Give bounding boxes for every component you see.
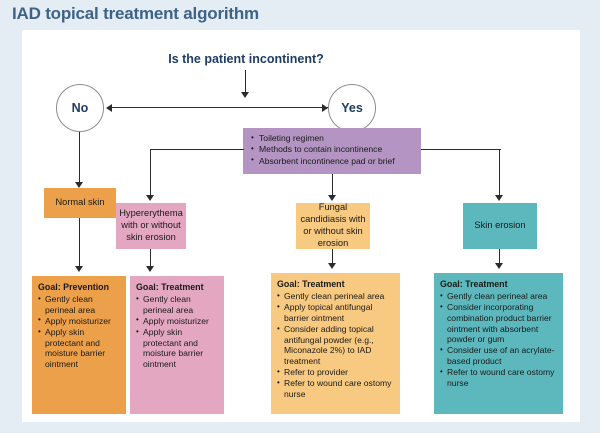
- arrow-treatment-fungal-icon: [328, 263, 336, 269]
- decision-question: Is the patient incontinent?: [126, 52, 366, 66]
- arrow-hypererythema-icon: [146, 195, 154, 201]
- condition-label: Hypererythema with or without skin erosi…: [119, 208, 183, 244]
- treatment-item: Apply topical antifungal barrier ointmen…: [277, 302, 395, 323]
- treatment-item: Apply skin protectant and moisture barri…: [38, 327, 121, 370]
- treatment-item: Gently clean perineal area: [440, 291, 558, 302]
- decision-node-yes[interactable]: Yes: [328, 84, 376, 132]
- treatment-item: Refer to wound care ostomy nurse: [440, 367, 558, 388]
- decision-node-no[interactable]: No: [56, 84, 104, 132]
- arrow-treatment-teal-icon: [495, 263, 503, 269]
- regimen-item: Methods to contain incontinence: [251, 144, 417, 155]
- treatment-box-hypererythema: Goal: Treatment Gently clean perineal ar…: [130, 276, 224, 414]
- connector-split-horizontal: [110, 107, 328, 108]
- flowchart-canvas: Is the patient incontinent? No Yes Toile…: [22, 30, 580, 422]
- arrow-treatment-pink-icon: [146, 266, 154, 272]
- treatment-item: Apply moisturizer: [136, 316, 219, 327]
- treatment-item: Refer to wound care ostomy nurse: [277, 378, 395, 399]
- treatment-box-fungal: Goal: Treatment Gently clean perineal ar…: [271, 273, 400, 414]
- treatment-list: Gently clean perineal area Apply moistur…: [38, 294, 121, 370]
- page-title: IAD topical treatment algorithm: [12, 4, 259, 24]
- connector-branch-right-drop: [499, 149, 500, 199]
- treatment-item: Gently clean perineal area: [38, 294, 121, 315]
- arrow-skinerosion-icon: [495, 195, 503, 201]
- regimen-item: Absorbent incontinence pad or brief: [251, 156, 417, 167]
- arrow-to-no-icon: [106, 104, 112, 112]
- treatment-list: Gently clean perineal area Apply moistur…: [136, 294, 219, 370]
- treatment-heading: Goal: Treatment: [136, 282, 219, 293]
- connector-no-to-normalskin: [79, 132, 80, 186]
- treatment-item: Refer to provider: [277, 367, 395, 378]
- treatment-heading: Goal: Treatment: [277, 279, 395, 290]
- connector-normalskin-to-prevention: [79, 218, 80, 270]
- treatment-list: Gently clean perineal area Consider inco…: [440, 291, 558, 388]
- condition-label: Normal skin: [55, 197, 104, 209]
- treatment-heading: Goal: Prevention: [38, 282, 121, 293]
- treatment-list: Gently clean perineal area Apply topical…: [277, 291, 395, 400]
- condition-box-skin-erosion: Skin erosion: [463, 203, 537, 249]
- regimen-list: Toileting regimen Methods to contain inc…: [251, 133, 417, 167]
- condition-box-normal-skin: Normal skin: [44, 188, 116, 218]
- connector-branch-left-bus: [150, 149, 244, 150]
- connector-branch-left-drop: [150, 149, 151, 199]
- diagram-root: IAD topical treatment algorithm Is the p…: [0, 0, 600, 433]
- arrow-prevention-icon: [75, 266, 83, 272]
- regimen-item: Toileting regimen: [251, 133, 417, 144]
- treatment-item: Consider use of an acrylate-based produc…: [440, 345, 558, 366]
- condition-box-fungal-candidiasis: Fungal candidiasis with or without skin …: [296, 203, 370, 249]
- treatment-item: Gently clean perineal area: [136, 294, 219, 315]
- treatment-item: Gently clean perineal area: [277, 291, 395, 302]
- treatment-item: Apply skin protectant and moisture barri…: [136, 327, 219, 370]
- treatment-item: Apply moisturizer: [38, 316, 121, 327]
- treatment-heading: Goal: Treatment: [440, 279, 558, 290]
- connector-question-stem: [245, 70, 246, 94]
- regimen-box: Toileting regimen Methods to contain inc…: [243, 128, 421, 174]
- treatment-item: Consider incorporating combination produ…: [440, 302, 558, 345]
- arrow-fungal-icon: [328, 195, 336, 201]
- treatment-box-prevention: Goal: Prevention Gently clean perineal a…: [32, 276, 126, 414]
- treatment-box-skin-erosion: Goal: Treatment Gently clean perineal ar…: [434, 273, 563, 414]
- condition-box-hypererythema: Hypererythema with or without skin erosi…: [116, 203, 186, 249]
- treatment-item: Consider adding topical antifungal powde…: [277, 324, 395, 367]
- condition-label: Fungal candidiasis with or without skin …: [300, 202, 366, 250]
- connector-branch-right-bus: [421, 149, 501, 150]
- condition-label: Skin erosion: [474, 220, 525, 232]
- arrow-question-down-icon: [241, 92, 249, 98]
